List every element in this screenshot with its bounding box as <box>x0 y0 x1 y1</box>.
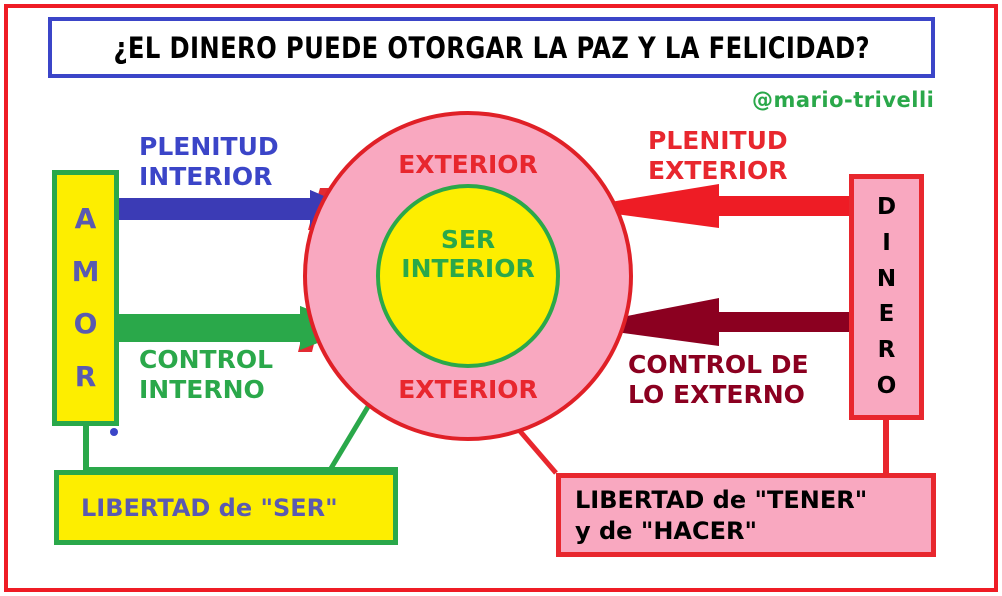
label-control-interno-line1: CONTROL <box>139 345 273 375</box>
libertad-de-tener-line1: LIBERTAD de "TENER" <box>575 485 931 516</box>
ser-interior-line2: INTERIOR <box>372 254 564 283</box>
ser-interior-label: SER INTERIOR <box>372 225 564 283</box>
dinero-letter-r: R <box>878 339 896 362</box>
label-plenitud-exterior-line1: PLENITUD <box>648 126 788 156</box>
label-control-interno: CONTROL INTERNO <box>139 345 273 404</box>
amor-letter-r: R <box>75 363 97 391</box>
connector-exterior-to-libertad-tener <box>519 430 556 473</box>
dinero-letter-e: E <box>879 303 895 326</box>
amor-box: A M O R <box>52 170 119 426</box>
ser-interior-line1: SER <box>372 225 564 254</box>
dinero-box: D I N E R O <box>849 174 924 420</box>
dinero-letter-o: O <box>877 375 897 398</box>
libertad-de-tener-box: LIBERTAD de "TENER" y de "HACER" <box>556 473 936 557</box>
exterior-label-bottom: EXTERIOR <box>340 375 596 404</box>
blue-dot-marker <box>110 428 118 436</box>
dinero-letter-d: D <box>877 196 896 219</box>
libertad-de-ser-box: LIBERTAD de "SER" <box>54 470 398 545</box>
label-control-de-lo-externo: CONTROL DE LO EXTERNO <box>628 350 809 409</box>
label-control-de-lo-externo-line1: CONTROL DE <box>628 350 809 380</box>
exterior-label-top: EXTERIOR <box>340 150 596 179</box>
amor-letter-a: A <box>75 205 97 233</box>
label-plenitud-exterior: PLENITUD EXTERIOR <box>648 126 788 185</box>
label-plenitud-interior-line2: INTERIOR <box>139 162 279 192</box>
amor-letter-m: M <box>72 258 100 286</box>
dinero-letter-n: N <box>877 268 896 291</box>
label-plenitud-interior-line1: PLENITUD <box>139 132 279 162</box>
label-control-interno-line2: INTERNO <box>139 375 273 405</box>
libertad-de-tener-line2: y de "HACER" <box>575 516 931 547</box>
amor-letter-o: O <box>74 310 98 338</box>
dinero-letter-i: I <box>882 232 891 255</box>
label-plenitud-exterior-line2: EXTERIOR <box>648 156 788 186</box>
arrow-plenitud-exterior <box>586 184 849 228</box>
label-plenitud-interior: PLENITUD INTERIOR <box>139 132 279 191</box>
diagram-canvas: ¿EL DINERO PUEDE OTORGAR LA PAZ Y LA FEL… <box>0 0 1002 596</box>
label-control-de-lo-externo-line2: LO EXTERNO <box>628 380 809 410</box>
libertad-de-ser-label: LIBERTAD de "SER" <box>81 494 338 522</box>
